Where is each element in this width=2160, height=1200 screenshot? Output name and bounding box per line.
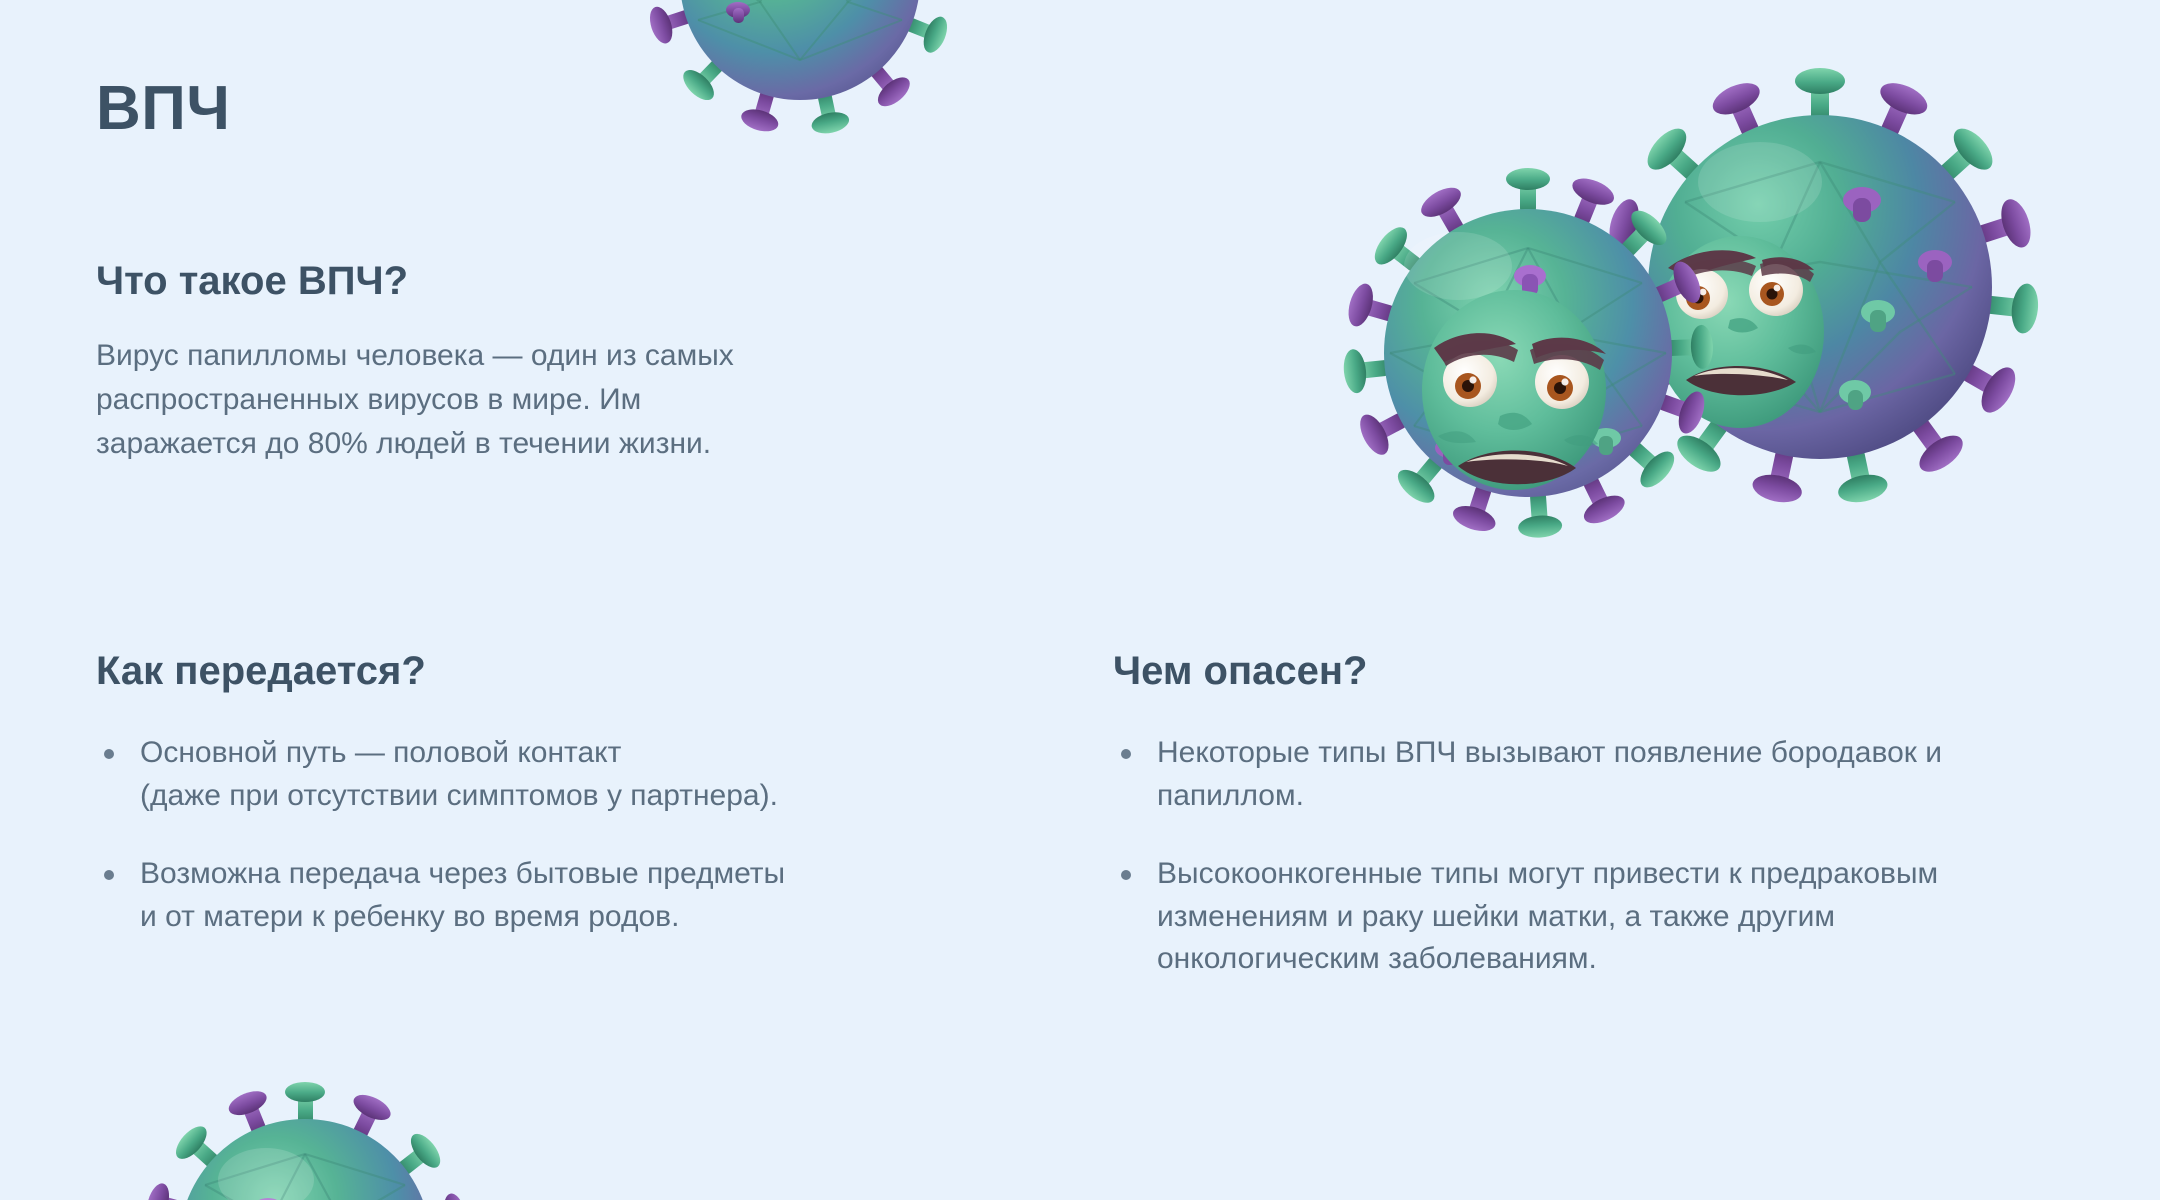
transmission-bullet-list: Основной путь — половой контакт (даже пр…	[96, 732, 1086, 938]
list-item-text: Основной путь — половой контакт (даже пр…	[140, 732, 1086, 817]
transmission-section: Как передается? Основной путь — половой …	[96, 648, 1086, 938]
bullet-dot-icon	[104, 870, 114, 880]
bullet-dot-icon	[1121, 749, 1131, 759]
list-item-text: Некоторые типы ВПЧ вызывают появление бо…	[1157, 732, 2063, 817]
list-item-text: Возможна передача через бытовые предметы…	[140, 853, 1086, 938]
list-item: Основной путь — половой контакт (даже пр…	[96, 732, 1086, 817]
list-item-text: Высокоонкогенные типы могут привести к п…	[1157, 853, 2063, 981]
bullet-dot-icon	[104, 749, 114, 759]
list-item: Высокоонкогенные типы могут привести к п…	[1113, 853, 2063, 981]
transmission-heading: Как передается?	[96, 648, 1086, 694]
intro-paragraph: Вирус папилломы человека — один из самых…	[96, 334, 796, 465]
list-item: Некоторые типы ВПЧ вызывают появление бо…	[1113, 732, 2063, 817]
intro-section: Что такое ВПЧ? Вирус папилломы человека …	[96, 258, 796, 465]
bullet-dot-icon	[1121, 870, 1131, 880]
danger-bullet-list: Некоторые типы ВПЧ вызывают появление бо…	[1113, 732, 2063, 981]
danger-heading: Чем опасен?	[1113, 648, 2063, 694]
list-item: Возможна передача через бытовые предметы…	[96, 853, 1086, 938]
danger-section: Чем опасен? Некоторые типы ВПЧ вызывают …	[1113, 648, 2063, 981]
content-layer: ВПЧ Что такое ВПЧ? Вирус папилломы челов…	[0, 0, 2160, 1200]
infographic-page: ВПЧ Что такое ВПЧ? Вирус папилломы челов…	[0, 0, 2160, 1200]
intro-heading: Что такое ВПЧ?	[96, 258, 796, 304]
page-title: ВПЧ	[96, 78, 230, 140]
